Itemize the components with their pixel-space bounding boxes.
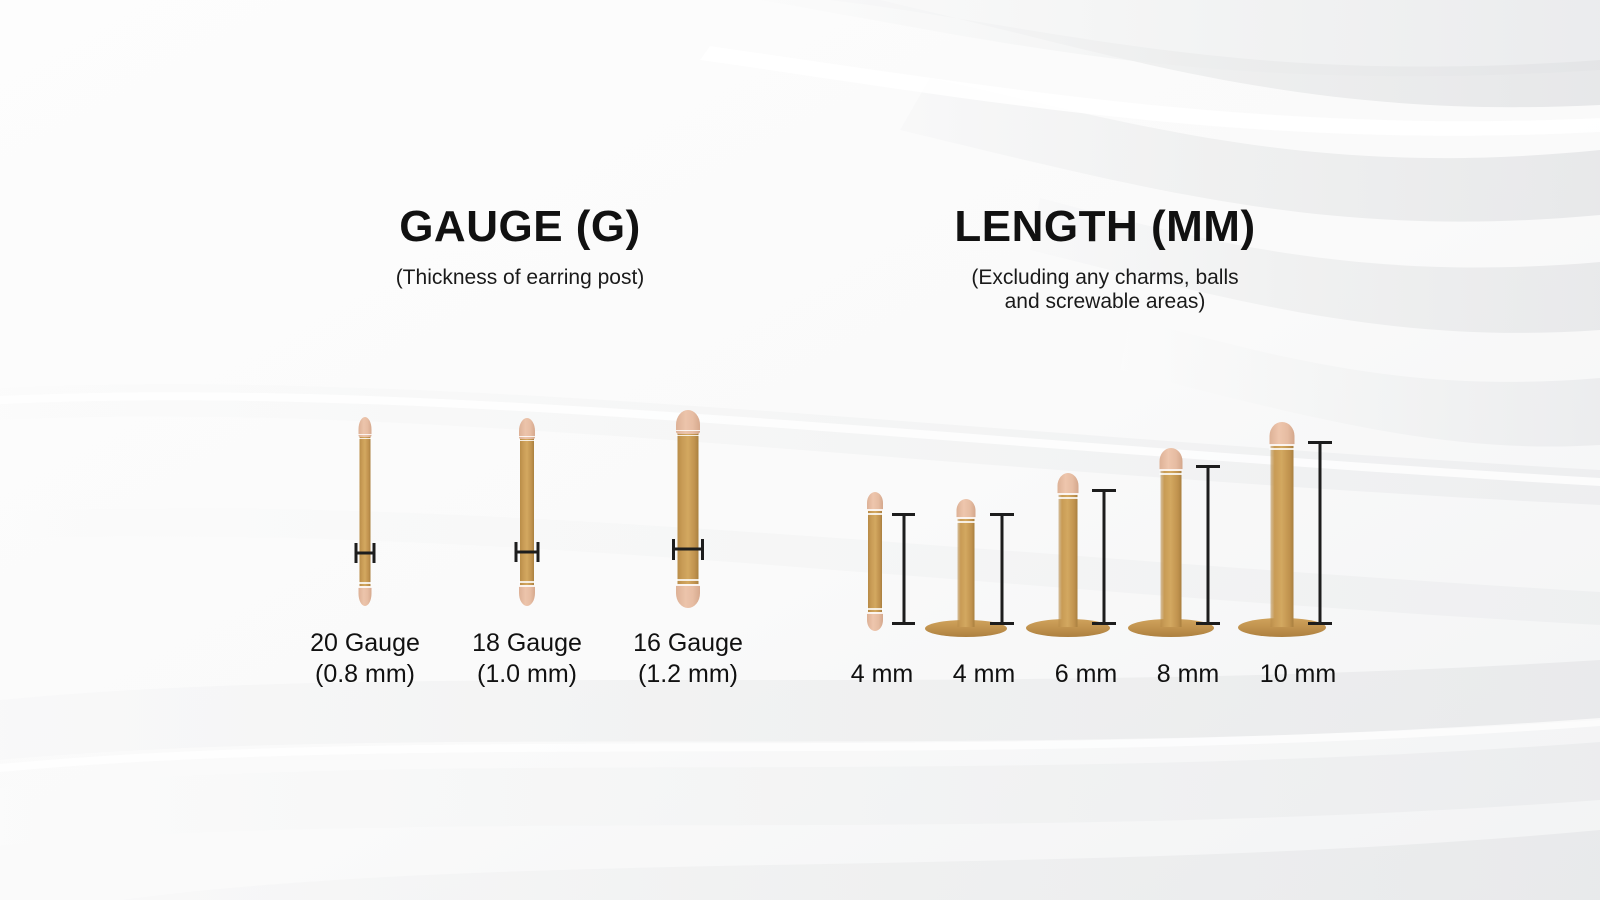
post-tip-top [867, 492, 883, 511]
gauge-item-16g[interactable]: 16 Gauge (1.2 mm) [628, 416, 748, 691]
post-tip-top [1270, 422, 1295, 446]
gauge-width-marker [672, 539, 704, 560]
gauge-width-marker [355, 543, 376, 563]
earring-post-shaft [868, 507, 882, 615]
length-post-figure-6mm-labret [1034, 422, 1138, 637]
earring-post-shaft [1059, 491, 1078, 627]
bracket-line [1207, 465, 1210, 625]
length-item-label: 10 mm [1246, 659, 1350, 690]
post-ring-line [867, 509, 883, 511]
length-measure-bracket [1196, 465, 1220, 625]
gauge-panel: GAUGE (G) (Thickness of earring post) [260, 205, 780, 290]
marker-bar [672, 548, 704, 551]
earring-post-shaft [520, 437, 534, 591]
post-ring-line [867, 612, 883, 614]
post-ring-line [867, 608, 883, 610]
bracket-cap-bottom [1196, 622, 1220, 625]
post-ring-line [519, 581, 535, 583]
length-item-label: 4 mm [830, 659, 934, 690]
gauge-item-18g[interactable]: 18 Gauge (1.0 mm) [467, 416, 587, 691]
gauge-heading: GAUGE (G) [260, 205, 780, 249]
length-measure-bracket [990, 513, 1014, 625]
post-ring-line [676, 584, 700, 586]
post-tip-bottom [867, 612, 883, 631]
post-ring-line [957, 517, 976, 519]
length-subheading: (Excluding any charms, balls and screwab… [845, 266, 1365, 314]
bracket-cap-bottom [892, 622, 915, 625]
length-item-4mm-barbell[interactable]: 4 mm [830, 422, 934, 690]
length-item-8mm-labret[interactable]: 8 mm [1136, 422, 1240, 690]
bracket-line [1001, 513, 1004, 625]
length-item-label: 4 mm [932, 659, 1036, 690]
gauge-width-marker [515, 542, 540, 562]
post-tip-bottom [519, 585, 535, 606]
post-ring-line [359, 434, 372, 436]
length-post-figure-10mm-labret [1246, 422, 1350, 637]
post-ring-line [1270, 448, 1295, 450]
marker-cap-right [537, 542, 540, 562]
length-item-10mm-labret[interactable]: 10 mm [1246, 422, 1350, 690]
gauge-samples-row: 20 Gauge (0.8 mm) [260, 390, 780, 690]
gauge-item-label: 20 Gauge (0.8 mm) [305, 628, 425, 691]
length-item-4mm-labret[interactable]: 4 mm [932, 422, 1036, 690]
post-ring-line [519, 436, 535, 438]
earring-post-shaft [360, 436, 371, 592]
length-item-label: 6 mm [1034, 659, 1138, 690]
length-samples-row: 4 mm 4 mm [830, 390, 1390, 690]
length-post-figure-8mm-labret [1136, 422, 1240, 637]
length-measure-bracket [1308, 441, 1332, 625]
marker-cap-right [701, 539, 704, 560]
gauge-post-figure-18g [467, 416, 587, 606]
length-post-figure-4mm-barbell [830, 422, 934, 637]
gauge-item-20g[interactable]: 20 Gauge (0.8 mm) [305, 416, 425, 691]
post-tip-top [1058, 473, 1079, 495]
post-ring-line [359, 586, 372, 588]
post-ring-line [359, 582, 372, 584]
length-measure-bracket [1092, 489, 1116, 625]
length-panel: LENGTH (MM) (Excluding any charms, balls… [845, 205, 1365, 314]
post-ring-line [1270, 444, 1295, 446]
gauge-item-label: 18 Gauge (1.0 mm) [467, 628, 587, 691]
gauge-subheading: (Thickness of earring post) [260, 266, 780, 290]
post-ring-line [676, 430, 700, 432]
length-item-6mm-labret[interactable]: 6 mm [1034, 422, 1138, 690]
length-item-label: 8 mm [1136, 659, 1240, 690]
bracket-line [1319, 441, 1322, 625]
length-measure-bracket [892, 513, 915, 625]
bracket-cap-bottom [1308, 622, 1332, 625]
post-ring-line [519, 440, 535, 442]
post-tip-bottom [359, 586, 372, 606]
post-ring-line [676, 579, 700, 581]
bracket-line [902, 513, 905, 625]
post-ring-line [359, 438, 372, 440]
marker-cap-right [373, 543, 376, 563]
post-tip-top [957, 499, 976, 519]
post-tip-top [1160, 448, 1183, 471]
gauge-post-figure-20g [305, 416, 425, 606]
post-ring-line [1160, 469, 1183, 471]
post-ring-line [867, 513, 883, 515]
bracket-cap-bottom [1092, 622, 1116, 625]
length-post-figure-4mm-labret [932, 422, 1036, 637]
gauge-post-figure-16g [628, 416, 748, 606]
post-ring-line [957, 521, 976, 523]
earring-post-shaft [1161, 467, 1182, 627]
bracket-line [1103, 489, 1106, 625]
post-ring-line [1160, 473, 1183, 475]
gauge-item-label: 16 Gauge (1.2 mm) [628, 628, 748, 691]
post-ring-line [519, 585, 535, 587]
post-ring-line [1058, 497, 1079, 499]
bracket-cap-bottom [990, 622, 1014, 625]
length-heading: LENGTH (MM) [845, 205, 1365, 249]
earring-post-shaft [958, 515, 975, 627]
post-tip-bottom [676, 584, 700, 608]
post-ring-line [676, 435, 700, 437]
earring-post-shaft [1271, 442, 1294, 627]
post-ring-line [1058, 493, 1079, 495]
earring-post-shaft [678, 430, 699, 590]
